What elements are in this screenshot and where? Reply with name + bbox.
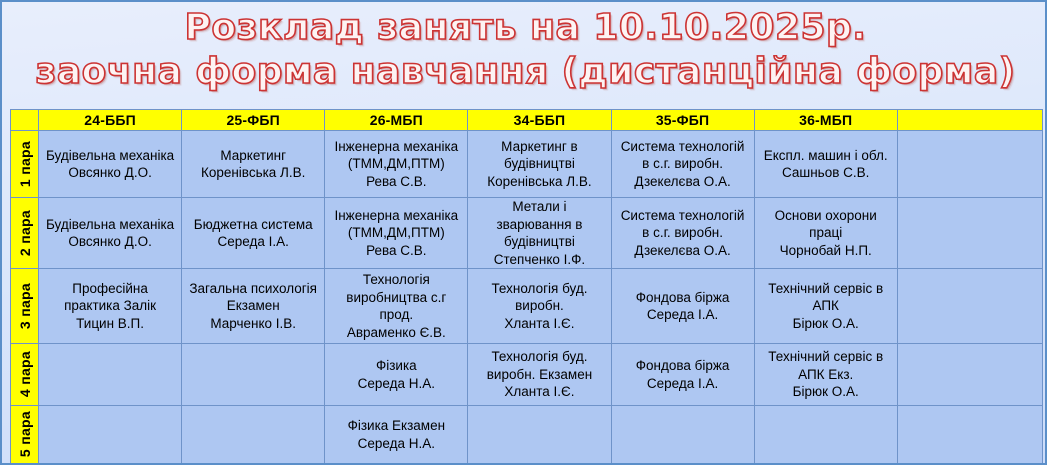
table-body: 1 пара Будівельна механіка Овсянко Д.О. … — [11, 131, 1043, 464]
cell-line: виробн. — [468, 297, 610, 315]
cell-r1-c2[interactable]: Маркетинг Коренівська Л.В. — [182, 131, 325, 198]
cell-r2-c3[interactable]: Інженерна механіка (ТММ,ДМ,ПТМ) Рева С.В… — [325, 198, 468, 269]
row-label-text: 3 пара — [17, 283, 33, 329]
cell-r3-c7[interactable] — [897, 269, 1042, 344]
cell-line: Середа І.А. — [612, 375, 754, 393]
cell-line: Коренівська Л.В. — [182, 164, 324, 182]
cell-line: Технічний сервіс в — [755, 280, 897, 298]
cell-line: АПК Екз. — [755, 366, 897, 384]
cell-r1-c4[interactable]: Маркетинг в будівництві Коренівська Л.В. — [468, 131, 611, 198]
row-label-text: 4 пара — [17, 351, 33, 397]
cell-r2-c5[interactable]: Система технологій в с.г. виробн. Дзекел… — [611, 198, 754, 269]
row-label-1: 1 пара — [11, 131, 39, 198]
cell-r1-c6[interactable]: Експл. машин і обл. Сашньов С.В. — [754, 131, 897, 198]
cell-line: Інженерна механіка — [325, 138, 467, 156]
schedule-table: 24-ББП 25-ФБП 26-МБП 34-ББП 35-ФБП 36-МБ… — [10, 109, 1043, 464]
cell-r5-c2[interactable] — [182, 406, 325, 464]
cell-r5-c3[interactable]: Фізика Екзамен Середа Н.А. — [325, 406, 468, 464]
cell-line: Середа Н.А. — [325, 375, 467, 393]
cell-line: Екзамен — [182, 297, 324, 315]
cell-line: Технологія буд. — [468, 280, 610, 298]
cell-line: Технологія — [325, 271, 467, 289]
cell-line: (ТММ,ДМ,ПТМ) — [325, 224, 467, 242]
cell-line: Фізика — [325, 357, 467, 375]
cell-line: Хланта І.Є. — [468, 383, 610, 401]
table-row: 4 пара Фізика Середа Н.А. Технологія буд… — [11, 344, 1043, 406]
schedule-slide: Розклад занять на 10.10.2025р. заочна фо… — [0, 0, 1047, 465]
cell-line: Система технологій — [612, 138, 754, 156]
cell-line: Дзекелєва О.А. — [612, 242, 754, 260]
row-label-text: 2 пара — [17, 210, 33, 256]
cell-line: Бірюк О.А. — [755, 383, 897, 401]
cell-line: в с.г. виробн. — [612, 224, 754, 242]
cell-line: Степченко І.Ф. — [468, 251, 610, 269]
cell-line: Марченко І.В. — [182, 315, 324, 333]
cell-line: Середа Н.А. — [325, 435, 467, 453]
cell-line: Коренівська Л.В. — [468, 173, 610, 191]
row-label-3: 3 пара — [11, 269, 39, 344]
table-row: 5 пара Фізика Екзамен Середа Н.А. — [11, 406, 1043, 464]
cell-r2-c6[interactable]: Основи охорони праці Чорнобай Н.П. — [754, 198, 897, 269]
cell-line: Основи охорони — [755, 207, 897, 225]
header-corner-cell — [11, 110, 39, 131]
cell-r5-c4[interactable] — [468, 406, 611, 464]
cell-r2-c7[interactable] — [897, 198, 1042, 269]
cell-line: Сашньов С.В. — [755, 164, 897, 182]
row-label-5: 5 пара — [11, 406, 39, 464]
cell-line: зварювання в — [468, 216, 610, 234]
schedule-table-wrapper: 24-ББП 25-ФБП 26-МБП 34-ББП 35-ФБП 36-МБ… — [10, 109, 1043, 464]
cell-line: Будівельна механіка — [39, 147, 181, 165]
cell-r3-c2[interactable]: Загальна психологія Екзамен Марченко І.В… — [182, 269, 325, 344]
cell-line: Маркетинг — [182, 147, 324, 165]
cell-r4-c7[interactable] — [897, 344, 1042, 406]
header-row: 24-ББП 25-ФБП 26-МБП 34-ББП 35-ФБП 36-МБ… — [11, 110, 1043, 131]
cell-line: Фондова біржа — [612, 289, 754, 307]
cell-line: Тицин В.П. — [39, 315, 181, 333]
cell-line: Авраменко Є.В. — [325, 324, 467, 342]
cell-line: виробництва с.г — [325, 289, 467, 307]
cell-r2-c2[interactable]: Бюджетна система Середа І.А. — [182, 198, 325, 269]
table-row: 3 пара Професійна практика Залік Тицин В… — [11, 269, 1043, 344]
header-group-25fbp[interactable]: 25-ФБП — [182, 110, 325, 131]
cell-r5-c5[interactable] — [611, 406, 754, 464]
cell-r1-c7[interactable] — [897, 131, 1042, 198]
cell-line: Овсянко Д.О. — [39, 164, 181, 182]
title-line-1: Розклад занять на 10.10.2025р. — [2, 6, 1047, 50]
cell-r1-c5[interactable]: Система технологій в с.г. виробн. Дзекел… — [611, 131, 754, 198]
cell-line: Фондова біржа — [612, 357, 754, 375]
row-label-text: 1 пара — [17, 141, 33, 187]
table-header: 24-ББП 25-ФБП 26-МБП 34-ББП 35-ФБП 36-МБ… — [11, 110, 1043, 131]
header-group-empty — [897, 110, 1042, 131]
cell-r5-c6[interactable] — [754, 406, 897, 464]
cell-r2-c1[interactable]: Будівельна механіка Овсянко Д.О. — [39, 198, 182, 269]
cell-r3-c1[interactable]: Професійна практика Залік Тицин В.П. — [39, 269, 182, 344]
cell-r4-c2[interactable] — [182, 344, 325, 406]
cell-line: будівництві — [468, 233, 610, 251]
cell-line: практика Залік — [39, 297, 181, 315]
cell-line: Загальна психологія — [182, 280, 324, 298]
cell-line: Інженерна механіка — [325, 207, 467, 225]
cell-r1-c1[interactable]: Будівельна механіка Овсянко Д.О. — [39, 131, 182, 198]
header-group-36mbp[interactable]: 36-МБП — [754, 110, 897, 131]
cell-line: Бюджетна система — [182, 216, 324, 234]
table-row: 2 пара Будівельна механіка Овсянко Д.О. … — [11, 198, 1043, 269]
cell-line: Рева С.В. — [325, 173, 467, 191]
cell-r4-c1[interactable] — [39, 344, 182, 406]
cell-line: прод. — [325, 306, 467, 324]
cell-line: Хланта І.Є. — [468, 315, 610, 333]
cell-line: Маркетинг в — [468, 138, 610, 156]
header-group-26mbp[interactable]: 26-МБП — [325, 110, 468, 131]
cell-line: виробн. Екзамен — [468, 366, 610, 384]
cell-r1-c3[interactable]: Інженерна механіка (ТММ,ДМ,ПТМ) Рева С.В… — [325, 131, 468, 198]
cell-line: Система технологій — [612, 207, 754, 225]
cell-line: праці — [755, 224, 897, 242]
cell-r5-c1[interactable] — [39, 406, 182, 464]
cell-line: в с.г. виробн. — [612, 155, 754, 173]
cell-line: АПК — [755, 297, 897, 315]
row-label-2: 2 пара — [11, 198, 39, 269]
cell-r5-c7[interactable] — [897, 406, 1042, 464]
cell-line: Професійна — [39, 280, 181, 298]
cell-line: Дзекелєва О.А. — [612, 173, 754, 191]
cell-line: Фізика Екзамен — [325, 417, 467, 435]
header-group-35fbp[interactable]: 35-ФБП — [611, 110, 754, 131]
cell-r4-c3[interactable]: Фізика Середа Н.А. — [325, 344, 468, 406]
table-row: 1 пара Будівельна механіка Овсянко Д.О. … — [11, 131, 1043, 198]
cell-line: Овсянко Д.О. — [39, 233, 181, 251]
cell-r4-c4[interactable]: Технологія буд. виробн. Екзамен Хланта І… — [468, 344, 611, 406]
title-line-2: заочна форма навчання (дистанційна форма… — [2, 50, 1047, 94]
cell-line: Рева С.В. — [325, 242, 467, 260]
cell-r4-c6[interactable]: Технічний сервіс в АПК Екз. Бірюк О.А. — [754, 344, 897, 406]
cell-line: Експл. машин і обл. — [755, 147, 897, 165]
cell-line: Метали і — [468, 198, 610, 216]
cell-r3-c4[interactable]: Технологія буд. виробн. Хланта І.Є. — [468, 269, 611, 344]
cell-line: Середа І.А. — [182, 233, 324, 251]
header-group-34bbp[interactable]: 34-ББП — [468, 110, 611, 131]
cell-line: Технологія буд. — [468, 348, 610, 366]
cell-line: Бірюк О.А. — [755, 315, 897, 333]
slide-title: Розклад занять на 10.10.2025р. заочна фо… — [2, 6, 1047, 94]
cell-line: Середа І.А. — [612, 306, 754, 324]
cell-line: будівництві — [468, 155, 610, 173]
cell-line: Технічний сервіс в — [755, 348, 897, 366]
cell-r3-c6[interactable]: Технічний сервіс в АПК Бірюк О.А. — [754, 269, 897, 344]
cell-line: Будівельна механіка — [39, 216, 181, 234]
header-group-24bbp[interactable]: 24-ББП — [39, 110, 182, 131]
cell-r2-c4[interactable]: Метали і зварювання в будівництві Степче… — [468, 198, 611, 269]
row-label-4: 4 пара — [11, 344, 39, 406]
cell-r3-c5[interactable]: Фондова біржа Середа І.А. — [611, 269, 754, 344]
cell-r3-c3[interactable]: Технологія виробництва с.г прод. Аврамен… — [325, 269, 468, 344]
cell-line: Чорнобай Н.П. — [755, 242, 897, 260]
cell-line: (ТММ,ДМ,ПТМ) — [325, 155, 467, 173]
cell-r4-c5[interactable]: Фондова біржа Середа І.А. — [611, 344, 754, 406]
row-label-text: 5 пара — [17, 411, 33, 457]
